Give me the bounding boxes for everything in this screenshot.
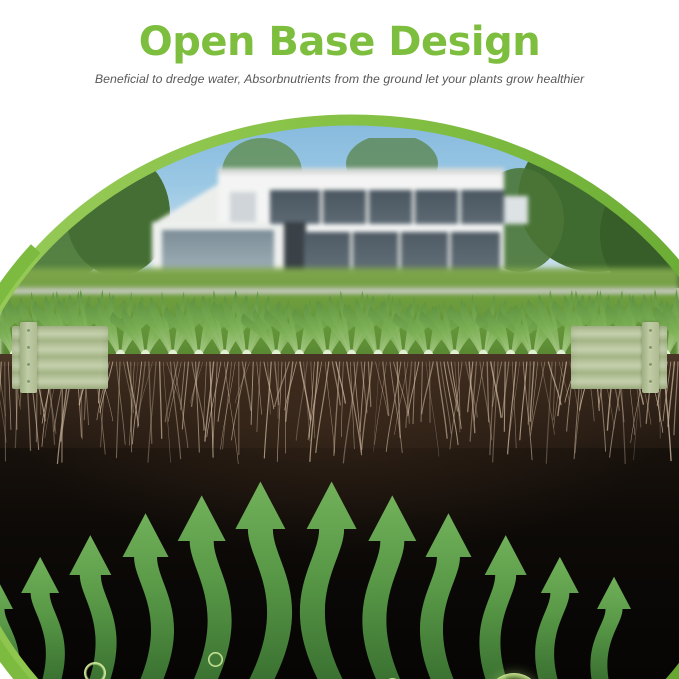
page-title: Open Base Design xyxy=(0,0,679,63)
product-scene: H2OKCAFeN xyxy=(0,118,679,679)
nutrient-bubble-empty xyxy=(84,662,106,679)
nutrient-bubble-empty xyxy=(208,652,223,667)
page-subtitle: Beneficial to dredge water, Absorbnutrie… xyxy=(0,63,679,86)
nutrient-bubbles: H2OKCAFeN xyxy=(0,368,679,679)
infographic-canvas: Open Base Design Beneficial to dredge wa… xyxy=(0,0,679,679)
nutrient-bubble-n: N xyxy=(486,673,542,679)
header: Open Base Design Beneficial to dredge wa… xyxy=(0,0,679,112)
scene-photo: H2OKCAFeN xyxy=(0,118,679,679)
